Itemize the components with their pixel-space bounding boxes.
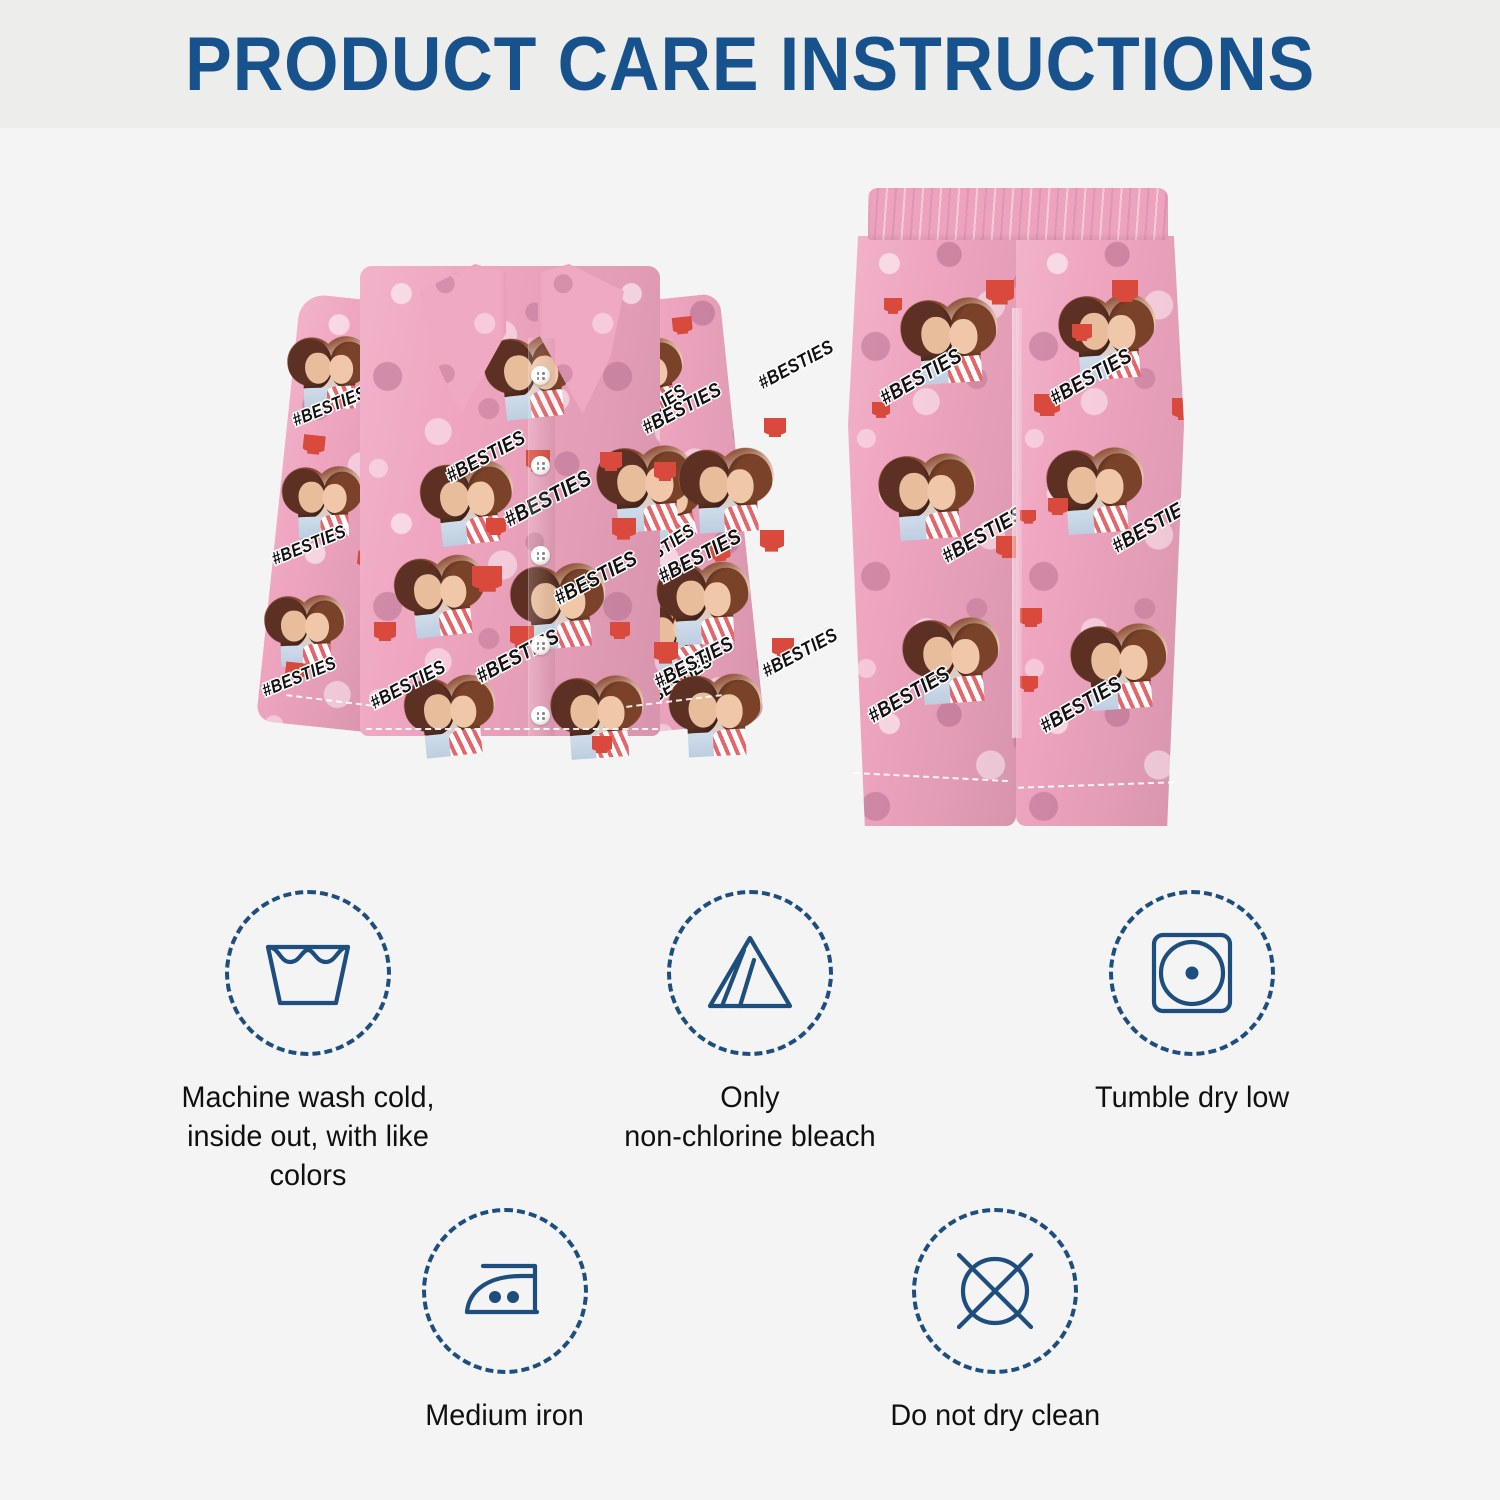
medium-iron-icon (422, 1208, 588, 1374)
care-item-bleach: Only non-chlorine bleach (600, 890, 900, 1195)
pants-elastic-waistband (868, 188, 1168, 240)
pajama-pants: #BESTIES#BESTIES#BESTIES #BESTIES#BESTIE… (820, 188, 1210, 868)
care-item-iron: Medium iron (355, 1208, 655, 1435)
do-not-dry-clean-icon (912, 1208, 1078, 1374)
shirt-button (531, 456, 550, 475)
pixel-heart-icon (1172, 398, 1198, 421)
pant-leg-right: #BESTIES#BESTIES#BESTIES (1016, 236, 1184, 826)
page-title: PRODUCT CARE INSTRUCTIONS (185, 21, 1315, 108)
pixel-heart-icon (1112, 280, 1138, 303)
care-label-iron: Medium iron (426, 1396, 584, 1435)
pixel-heart-icon (760, 530, 784, 552)
pixel-heart-icon (672, 316, 694, 336)
care-item-dry-clean: Do not dry clean (845, 1208, 1145, 1435)
pixel-heart-icon (1020, 608, 1042, 628)
pixel-heart-icon (486, 518, 506, 536)
pixel-heart-icon (592, 736, 612, 754)
shirt-body: #BESTIES#BESTIES#BESTIES#BESTIES#BESTIES… (360, 266, 660, 736)
pant-leg-left: #BESTIES#BESTIES#BESTIES (848, 236, 1016, 826)
care-row-bottom: Medium iron Do not dry clean (0, 1208, 1500, 1435)
shirt-hem-stitching (366, 728, 658, 730)
shirt-button (531, 546, 550, 565)
pixel-heart-icon (610, 622, 630, 640)
heart-photo-medallion (666, 672, 766, 765)
pixel-heart-icon (764, 418, 786, 438)
pixel-heart-icon (1020, 676, 1038, 692)
tumble-dry-low-icon (1109, 890, 1275, 1056)
care-item-tumble-dry: Tumble dry low (1042, 890, 1342, 1195)
care-row-top: Machine wash cold, inside out, with like… (0, 890, 1500, 1195)
shirt-button (531, 366, 550, 385)
pixel-heart-icon (612, 518, 636, 540)
wash-basin-icon (225, 890, 391, 1056)
shirt-button (531, 706, 550, 725)
header-banner: PRODUCT CARE INSTRUCTIONS (0, 0, 1500, 128)
care-label-machine-wash: Machine wash cold, inside out, with like… (164, 1078, 452, 1195)
pixel-heart-icon (600, 452, 622, 472)
pixel-heart-icon (374, 622, 396, 642)
pixel-heart-icon (302, 434, 326, 456)
pixel-heart-icon (1048, 498, 1068, 516)
pants-center-seam (1012, 308, 1022, 738)
heart-photo-medallion (262, 594, 349, 673)
non-chlorine-bleach-triangle-icon (667, 890, 833, 1056)
care-item-machine-wash: Machine wash cold, inside out, with like… (158, 890, 458, 1195)
pixel-heart-icon (884, 298, 902, 314)
care-label-tumble-dry: Tumble dry low (1095, 1078, 1289, 1117)
pixel-heart-icon (1020, 510, 1036, 524)
pixel-heart-icon (1072, 324, 1092, 342)
shirt-button-placket (528, 338, 555, 736)
heart-photo-medallion (676, 445, 779, 540)
product-image: #BESTIES#BESTIES#BESTIES #BESTIES#BESTIE… (0, 128, 1500, 888)
pixel-heart-icon (986, 280, 1014, 305)
care-label-bleach: Only non-chlorine bleach (624, 1078, 875, 1156)
shirt-button (531, 636, 550, 655)
care-label-dry-clean: Do not dry clean (890, 1396, 1100, 1435)
pixel-heart-icon (472, 566, 502, 593)
pixel-heart-icon (654, 462, 676, 482)
pajama-shirt: #BESTIES#BESTIES#BESTIES #BESTIES#BESTIE… (270, 248, 750, 788)
